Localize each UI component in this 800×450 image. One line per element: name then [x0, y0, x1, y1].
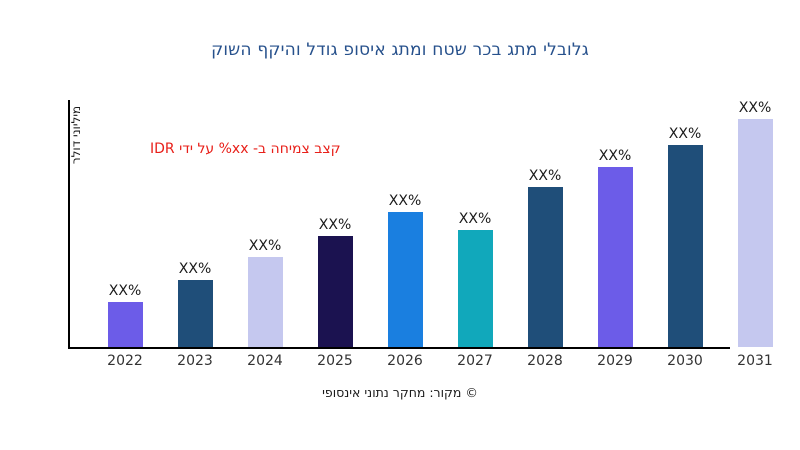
x-tick-2025: 2025	[317, 353, 353, 369]
x-tick-2026: 2026	[387, 353, 423, 369]
bar-2029[interactable]: XX%	[598, 143, 633, 347]
bar-rect-2027	[458, 230, 493, 347]
x-axis-line	[68, 347, 730, 349]
y-axis-line	[68, 100, 70, 348]
plot-area: XX%XX%XX%XX%XX%XX%XX%XX%XX%XX%	[68, 100, 718, 349]
bar-2023[interactable]: XX%	[178, 256, 213, 347]
source-caption: © מקור: מחקר נתוני אינסופי	[0, 385, 800, 400]
bar-rect-2026	[388, 212, 423, 347]
bar-value-label-2031: XX%	[739, 100, 771, 116]
bar-rect-2024	[248, 257, 283, 347]
x-axis-tick-labels: 2022202320242025202620272028202920302031	[68, 353, 800, 375]
bar-value-label-2026: XX%	[389, 193, 421, 209]
chart-title: גלובלי מתג בכר שטח ומתג איסופ גודל והיקף…	[0, 40, 800, 60]
bar-rect-2029	[598, 167, 633, 347]
x-tick-2029: 2029	[597, 353, 633, 369]
bar-2024[interactable]: XX%	[248, 233, 283, 347]
bar-value-label-2027: XX%	[459, 211, 491, 227]
bar-2022[interactable]: XX%	[108, 278, 143, 347]
bar-value-label-2023: XX%	[179, 261, 211, 277]
bar-value-label-2024: XX%	[249, 238, 281, 254]
bar-rect-2025	[318, 236, 353, 347]
bar-value-label-2030: XX%	[669, 126, 701, 142]
bar-value-label-2022: XX%	[109, 283, 141, 299]
bar-rect-2022	[108, 302, 143, 347]
x-tick-2027: 2027	[457, 353, 493, 369]
bar-2025[interactable]: XX%	[318, 212, 353, 347]
bar-2030[interactable]: XX%	[668, 121, 703, 347]
bar-rect-2030	[668, 145, 703, 347]
bar-rect-2031	[738, 119, 773, 347]
bar-value-label-2028: XX%	[529, 168, 561, 184]
bar-value-label-2029: XX%	[599, 148, 631, 164]
bar-2031[interactable]: XX%	[738, 95, 773, 347]
bar-2028[interactable]: XX%	[528, 163, 563, 347]
bar-2026[interactable]: XX%	[388, 188, 423, 347]
bar-rect-2023	[178, 280, 213, 347]
bar-value-label-2025: XX%	[319, 217, 351, 233]
x-tick-2024: 2024	[247, 353, 283, 369]
x-tick-2030: 2030	[667, 353, 703, 369]
x-tick-2031: 2031	[737, 353, 773, 369]
bar-chart: גלובלי מתג בכר שטח ומתג איסופ גודל והיקף…	[0, 0, 800, 450]
x-tick-2022: 2022	[107, 353, 143, 369]
x-tick-2028: 2028	[527, 353, 563, 369]
x-tick-2023: 2023	[177, 353, 213, 369]
bar-rect-2028	[528, 187, 563, 347]
bar-2027[interactable]: XX%	[458, 206, 493, 347]
